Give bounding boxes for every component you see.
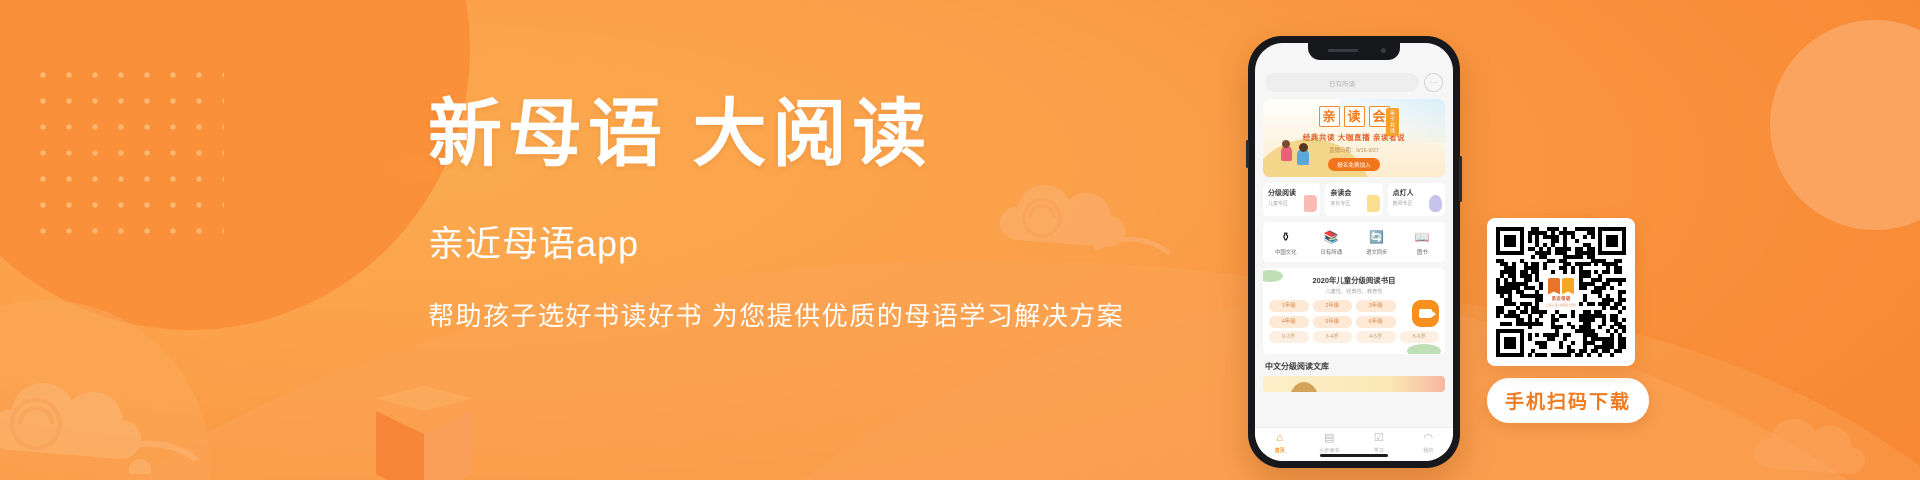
quick-link-label: 语文同步 [1354, 248, 1400, 256]
category-card[interactable]: 分级阅读 儿童专区 [1263, 183, 1320, 216]
qr-center-logo: 亲近母语 让孩子 爱上阅读爱上母语 [1544, 275, 1578, 309]
tab-label: 我的 [1404, 447, 1454, 454]
list-icon: ▤ [1323, 432, 1336, 445]
grade-chip[interactable]: 6年级 [1356, 316, 1396, 328]
decor-circle-top-right [1770, 20, 1920, 230]
quick-links: ⚱ 中国文化 📚 日有所诵 🔄 语文同步 📖 图书 [1263, 222, 1445, 262]
promo-card[interactable]: 亲 读 会 亲子共读 经典共读 大咖直播 亲读者说 直播日期：9/16-9/27… [1263, 99, 1445, 177]
person-icon: ◠ [1422, 432, 1435, 445]
quick-link-recite[interactable]: 📚 日有所诵 [1309, 229, 1355, 256]
tab-label: 首页 [1255, 447, 1305, 454]
search-placeholder: 日有所诵 [1329, 78, 1355, 88]
search-input[interactable]: 日有所诵 [1265, 73, 1419, 92]
decor-circle-bottom-left [0, 300, 210, 480]
tab-label: 小步读书 [1305, 447, 1355, 454]
grade-chip[interactable]: 1年级 [1269, 300, 1309, 312]
download-button[interactable]: 手机扫码下载 [1487, 378, 1649, 423]
grade-chip[interactable]: 2年级 [1313, 300, 1353, 312]
booklist-subtitle: 儿童性、经典性、教育性 [1269, 288, 1439, 295]
library-banner[interactable] [1263, 376, 1445, 392]
age-chip[interactable]: 5-6岁 [1400, 331, 1440, 343]
quick-link-label: 日有所诵 [1309, 248, 1355, 256]
decor-dot-grid [30, 62, 224, 242]
quick-link-sync[interactable]: 🔄 语文同步 [1354, 229, 1400, 256]
booklist-card: 2020年儿童分级阅读书目 儿童性、经典性、教育性 1年级 2年级 3年级 [1263, 268, 1445, 354]
home-indicator [1320, 454, 1388, 457]
booklist-title: 2020年儿童分级阅读书目 [1269, 275, 1439, 286]
recite-icon: 📚 [1324, 229, 1339, 245]
app-name: 亲近母语app [428, 222, 1248, 265]
message-icon[interactable]: ··· [1424, 73, 1443, 92]
quick-link-books[interactable]: 📖 图书 [1400, 229, 1446, 256]
app-search-row: 日有所诵 ··· [1263, 69, 1445, 99]
promo-title: 亲 读 会 [1319, 106, 1390, 127]
banner-copy: 新母语 大阅读 亲近母语app 帮助孩子选好书读好书 为您提供优质的母语学习解决… [428, 96, 1248, 333]
category-cards: 分级阅读 儿童专区 亲读会 家长专区 点灯人 教师专区 [1263, 183, 1445, 216]
qr-download-block: 亲近母语 让孩子 爱上阅读爱上母语 手机扫码下载 [1487, 218, 1635, 423]
home-icon: ⌂ [1273, 432, 1286, 445]
age-chip[interactable]: 4-5岁 [1356, 331, 1396, 343]
library-title: 中文分级阅读文库 [1263, 361, 1445, 372]
promo-child-a [1281, 146, 1292, 161]
decor-circle-top-left [0, 0, 470, 330]
books-icon: 📖 [1415, 229, 1430, 245]
sync-icon: 🔄 [1369, 229, 1384, 245]
tab-home[interactable]: ⌂ 首页 [1255, 432, 1305, 454]
book-logo-icon [1548, 278, 1574, 295]
promo-title-char: 读 [1344, 106, 1365, 127]
quick-link-label: 图书 [1400, 248, 1446, 256]
phone-mockup: 日有所诵 ··· 亲 读 会 亲子共读 经典共读 大咖直播 亲读者说 [1248, 36, 1460, 468]
qr-logo-slogan: 让孩子 爱上阅读爱上母语 [1546, 303, 1575, 307]
age-row: 0-3岁 3-4岁 4-5岁 5-6岁 [1269, 331, 1439, 343]
decor-leaf [1407, 344, 1441, 354]
promo-banner: 新母语 大阅读 亲近母语app 帮助孩子选好书读好书 为您提供优质的母语学习解决… [0, 0, 1920, 480]
app-home-screen: 日有所诵 ··· 亲 读 会 亲子共读 经典共读 大咖直播 亲读者说 [1255, 43, 1453, 461]
video-camera-icon [1419, 309, 1432, 318]
tab-label: 学习 [1354, 447, 1404, 454]
grade-chips: 1年级 2年级 3年级 4年级 5年级 6年级 0-3岁 [1269, 300, 1439, 343]
promo-child-b [1297, 149, 1309, 165]
phone-screen: 日有所诵 ··· 亲 读 会 亲子共读 经典共读 大咖直播 亲读者说 [1255, 43, 1453, 461]
quick-link-label: 中国文化 [1263, 248, 1309, 256]
promo-ribbon: 亲子共读 [1386, 108, 1399, 136]
culture-icon: ⚱ [1278, 229, 1293, 245]
promo-join-button[interactable]: 报名免费加入 [1328, 158, 1380, 171]
grade-chip[interactable]: 5年级 [1313, 316, 1353, 328]
tagline: 帮助孩子选好书读好书 为您提供优质的母语学习解决方案 [428, 300, 1248, 334]
age-chip[interactable]: 0-3岁 [1269, 331, 1309, 343]
qr-code-card: 亲近母语 让孩子 爱上阅读爱上母语 [1487, 218, 1635, 366]
category-card[interactable]: 亲读会 家长专区 [1325, 183, 1382, 216]
book-red-icon [1304, 195, 1317, 212]
promo-title-char: 亲 [1319, 106, 1340, 127]
category-card[interactable]: 点灯人 教师专区 [1388, 183, 1445, 216]
book-purple-icon [1429, 195, 1442, 212]
tab-study[interactable]: ☑ 学习 [1354, 432, 1404, 454]
age-chip[interactable]: 3-4岁 [1313, 331, 1353, 343]
grade-chip[interactable]: 4年级 [1269, 316, 1309, 328]
tab-profile[interactable]: ◠ 我的 [1404, 432, 1454, 454]
quick-link-culture[interactable]: ⚱ 中国文化 [1263, 229, 1309, 256]
grade-chip[interactable]: 3年级 [1356, 300, 1396, 312]
book-yellow-icon [1367, 195, 1380, 212]
checklist-icon: ☑ [1372, 432, 1385, 445]
decor-cube [376, 386, 472, 480]
decor-cloud-bottom-right [1754, 406, 1914, 480]
promo-date: 直播日期：9/16-9/27 [1329, 146, 1379, 154]
decor-cloud-bottom-left [0, 354, 240, 474]
video-play-button[interactable] [1412, 300, 1439, 327]
page-title: 新母语 大阅读 [428, 96, 1248, 174]
qr-logo-name: 亲近母语 [1552, 296, 1571, 302]
tab-reading[interactable]: ▤ 小步读书 [1305, 432, 1355, 454]
phone-notch [1308, 43, 1400, 60]
